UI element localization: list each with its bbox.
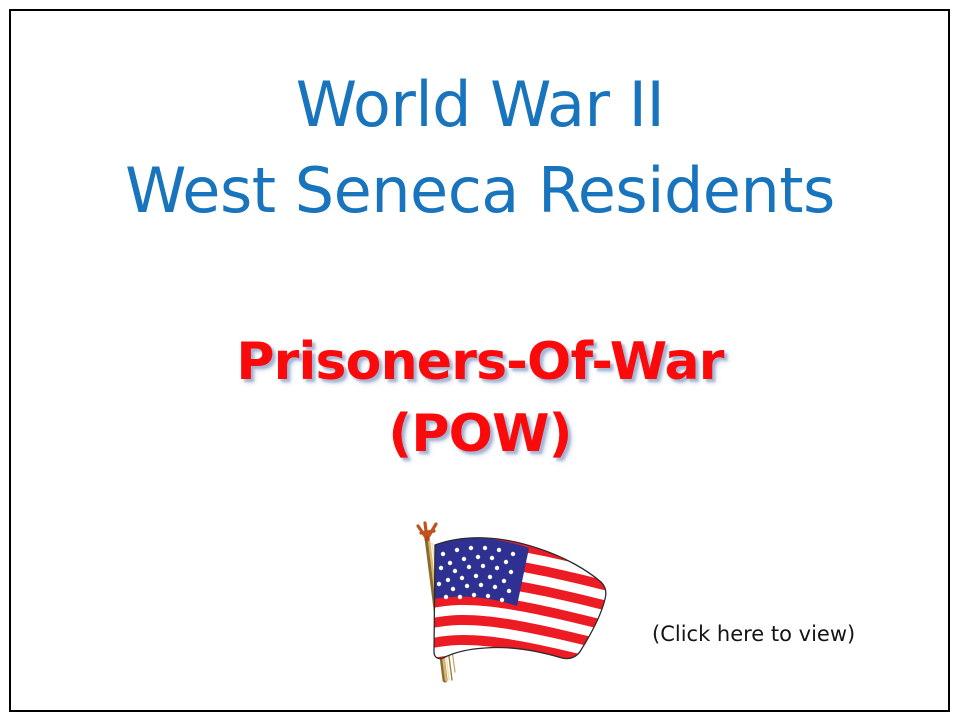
subtitle: Prisoners-Of-War (POW) [0, 326, 960, 470]
subtitle-line-pow: (POW) [0, 398, 960, 470]
american-flag-icon [405, 512, 620, 684]
click-here-to-view-caption[interactable]: (Click here to view) [652, 622, 855, 646]
flag-body [425, 527, 620, 684]
finial-knob [424, 536, 429, 541]
title-line-west-seneca-residents: West Seneca Residents [0, 148, 960, 234]
page-title: World War II West Seneca Residents [0, 62, 960, 234]
slide-canvas: World War II West Seneca Residents Priso… [0, 0, 960, 720]
title-line-world-war-ii: World War II [0, 62, 960, 148]
flag-canton [429, 538, 529, 606]
subtitle-line-prisoners-of-war: Prisoners-Of-War [0, 326, 960, 398]
american-flag-image[interactable] [405, 512, 620, 684]
